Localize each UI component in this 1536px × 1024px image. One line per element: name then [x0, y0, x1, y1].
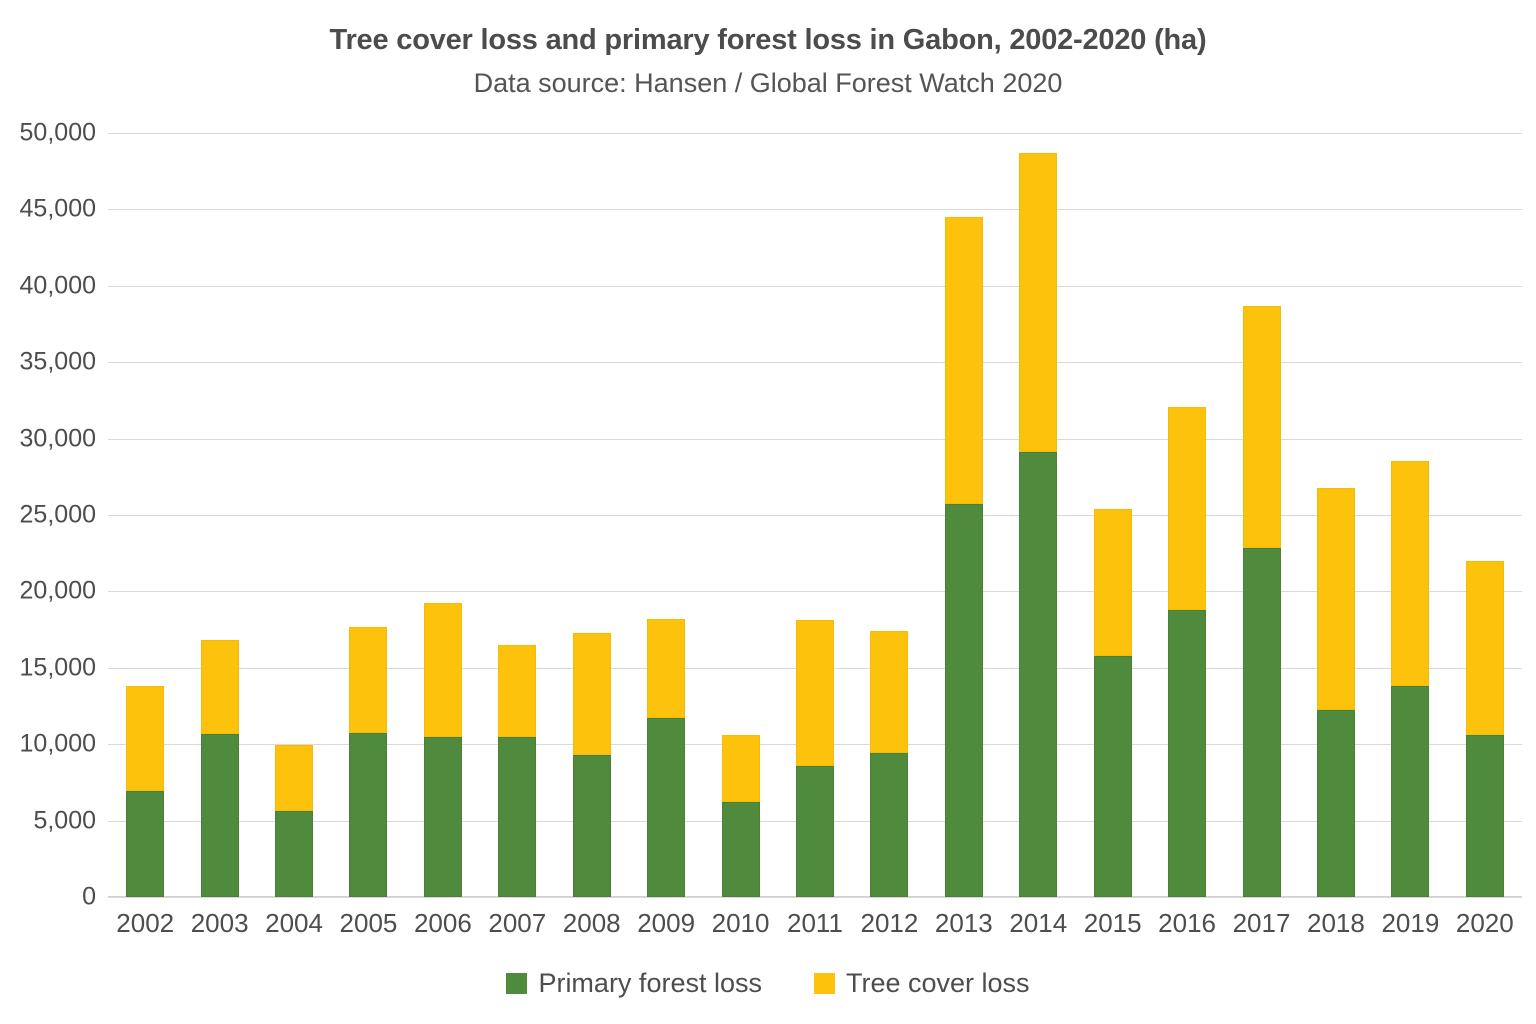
bar-group[interactable]	[424, 603, 462, 897]
x-axis-tick-label: 2006	[406, 908, 480, 939]
bar-segment-primary-forest-loss[interactable]	[1391, 686, 1429, 897]
x-axis-tick-label: 2016	[1150, 908, 1224, 939]
bar-segment-tree-cover-loss[interactable]	[1168, 407, 1206, 610]
y-axis-tick-label: 35,000	[0, 348, 96, 377]
bar-segment-tree-cover-loss[interactable]	[349, 627, 387, 733]
bar-segment-primary-forest-loss[interactable]	[1243, 548, 1281, 897]
bar-segment-tree-cover-loss[interactable]	[647, 619, 685, 718]
bar-group[interactable]	[126, 686, 164, 897]
bar-segment-tree-cover-loss[interactable]	[1317, 488, 1355, 710]
x-axis-tick-label: 2012	[852, 908, 926, 939]
gridline	[108, 897, 1522, 898]
bar-segment-primary-forest-loss[interactable]	[201, 734, 239, 897]
bar-segment-tree-cover-loss[interactable]	[1466, 561, 1504, 735]
bar-group[interactable]	[201, 640, 239, 897]
bar-segment-tree-cover-loss[interactable]	[1019, 153, 1057, 452]
bar-group[interactable]	[1168, 407, 1206, 897]
y-axis-tick-label: 40,000	[0, 271, 96, 300]
legend-swatch-icon	[814, 973, 835, 994]
bar-segment-tree-cover-loss[interactable]	[1391, 461, 1429, 686]
x-axis-tick-label: 2002	[108, 908, 182, 939]
x-axis-tick-label: 2014	[1001, 908, 1075, 939]
x-axis-tick-label: 2007	[480, 908, 554, 939]
bar-segment-primary-forest-loss[interactable]	[1094, 656, 1132, 897]
x-axis-tick-label: 2017	[1224, 908, 1298, 939]
bars-layer	[108, 133, 1522, 897]
bar-segment-primary-forest-loss[interactable]	[275, 811, 313, 897]
y-axis-tick-label: 25,000	[0, 501, 96, 530]
bar-group[interactable]	[796, 620, 834, 897]
bar-group[interactable]	[349, 627, 387, 897]
legend-item[interactable]: Tree cover loss	[814, 968, 1030, 999]
y-axis-tick-label: 15,000	[0, 653, 96, 682]
bar-segment-primary-forest-loss[interactable]	[573, 755, 611, 897]
x-axis-tick-label: 2003	[182, 908, 256, 939]
y-axis: 50,00045,00040,00035,00030,00025,00020,0…	[0, 133, 96, 897]
bar-segment-primary-forest-loss[interactable]	[870, 753, 908, 897]
y-axis-tick-label: 45,000	[0, 195, 96, 224]
bar-group[interactable]	[498, 645, 536, 897]
bar-segment-tree-cover-loss[interactable]	[201, 640, 239, 734]
bar-segment-tree-cover-loss[interactable]	[870, 631, 908, 753]
x-axis-tick-label: 2008	[555, 908, 629, 939]
legend-label: Primary forest loss	[538, 968, 762, 999]
chart-subtitle: Data source: Hansen / Global Forest Watc…	[0, 68, 1536, 99]
y-axis-tick-label: 30,000	[0, 424, 96, 453]
legend-swatch-icon	[506, 973, 527, 994]
x-axis-tick-label: 2009	[629, 908, 703, 939]
chart-legend: Primary forest lossTree cover loss	[0, 968, 1536, 999]
bar-segment-primary-forest-loss[interactable]	[796, 766, 834, 897]
x-axis-tick-label: 2018	[1299, 908, 1373, 939]
bar-segment-primary-forest-loss[interactable]	[647, 718, 685, 897]
bar-segment-tree-cover-loss[interactable]	[1243, 306, 1281, 548]
x-axis: 2002200320042005200620072008200920102011…	[108, 908, 1522, 954]
x-axis-tick-label: 2004	[257, 908, 331, 939]
bar-group[interactable]	[1019, 153, 1057, 897]
bar-segment-primary-forest-loss[interactable]	[349, 733, 387, 897]
x-axis-tick-label: 2013	[927, 908, 1001, 939]
bar-group[interactable]	[945, 217, 983, 897]
bar-segment-primary-forest-loss[interactable]	[126, 791, 164, 897]
bar-segment-tree-cover-loss[interactable]	[424, 603, 462, 737]
bar-segment-primary-forest-loss[interactable]	[722, 802, 760, 897]
bar-segment-tree-cover-loss[interactable]	[1094, 509, 1132, 656]
x-axis-tick-label: 2005	[331, 908, 405, 939]
bar-group[interactable]	[722, 735, 760, 897]
x-axis-tick-label: 2010	[703, 908, 777, 939]
x-axis-tick-label: 2020	[1448, 908, 1522, 939]
bar-group[interactable]	[275, 745, 313, 897]
bar-segment-tree-cover-loss[interactable]	[722, 735, 760, 802]
bar-segment-primary-forest-loss[interactable]	[1466, 735, 1504, 897]
y-axis-tick-label: 5,000	[0, 806, 96, 835]
y-axis-tick-label: 0	[0, 883, 96, 912]
bar-segment-primary-forest-loss[interactable]	[498, 737, 536, 897]
bar-segment-primary-forest-loss[interactable]	[1317, 710, 1355, 897]
y-axis-tick-label: 10,000	[0, 730, 96, 759]
bar-group[interactable]	[1466, 561, 1504, 897]
legend-label: Tree cover loss	[846, 968, 1030, 999]
legend-item[interactable]: Primary forest loss	[506, 968, 762, 999]
bar-group[interactable]	[1243, 306, 1281, 897]
bar-group[interactable]	[573, 633, 611, 897]
bar-segment-tree-cover-loss[interactable]	[126, 686, 164, 791]
bar-segment-tree-cover-loss[interactable]	[498, 645, 536, 737]
y-axis-tick-label: 50,000	[0, 119, 96, 148]
chart-title: Tree cover loss and primary forest loss …	[0, 24, 1536, 57]
bar-group[interactable]	[1094, 509, 1132, 897]
x-axis-tick-label: 2015	[1075, 908, 1149, 939]
x-axis-tick-label: 2019	[1373, 908, 1447, 939]
bar-segment-primary-forest-loss[interactable]	[1019, 452, 1057, 897]
bar-segment-primary-forest-loss[interactable]	[945, 504, 983, 897]
bar-group[interactable]	[870, 631, 908, 897]
bar-segment-tree-cover-loss[interactable]	[573, 633, 611, 755]
bar-group[interactable]	[1317, 488, 1355, 897]
bar-segment-tree-cover-loss[interactable]	[945, 217, 983, 504]
x-axis-tick-label: 2011	[778, 908, 852, 939]
chart-container: Tree cover loss and primary forest loss …	[0, 0, 1536, 1024]
bar-segment-tree-cover-loss[interactable]	[796, 620, 834, 766]
bar-group[interactable]	[647, 619, 685, 897]
y-axis-tick-label: 20,000	[0, 577, 96, 606]
bar-segment-primary-forest-loss[interactable]	[424, 737, 462, 897]
bar-segment-tree-cover-loss[interactable]	[275, 745, 313, 811]
bar-group[interactable]	[1391, 461, 1429, 897]
bar-segment-primary-forest-loss[interactable]	[1168, 610, 1206, 897]
